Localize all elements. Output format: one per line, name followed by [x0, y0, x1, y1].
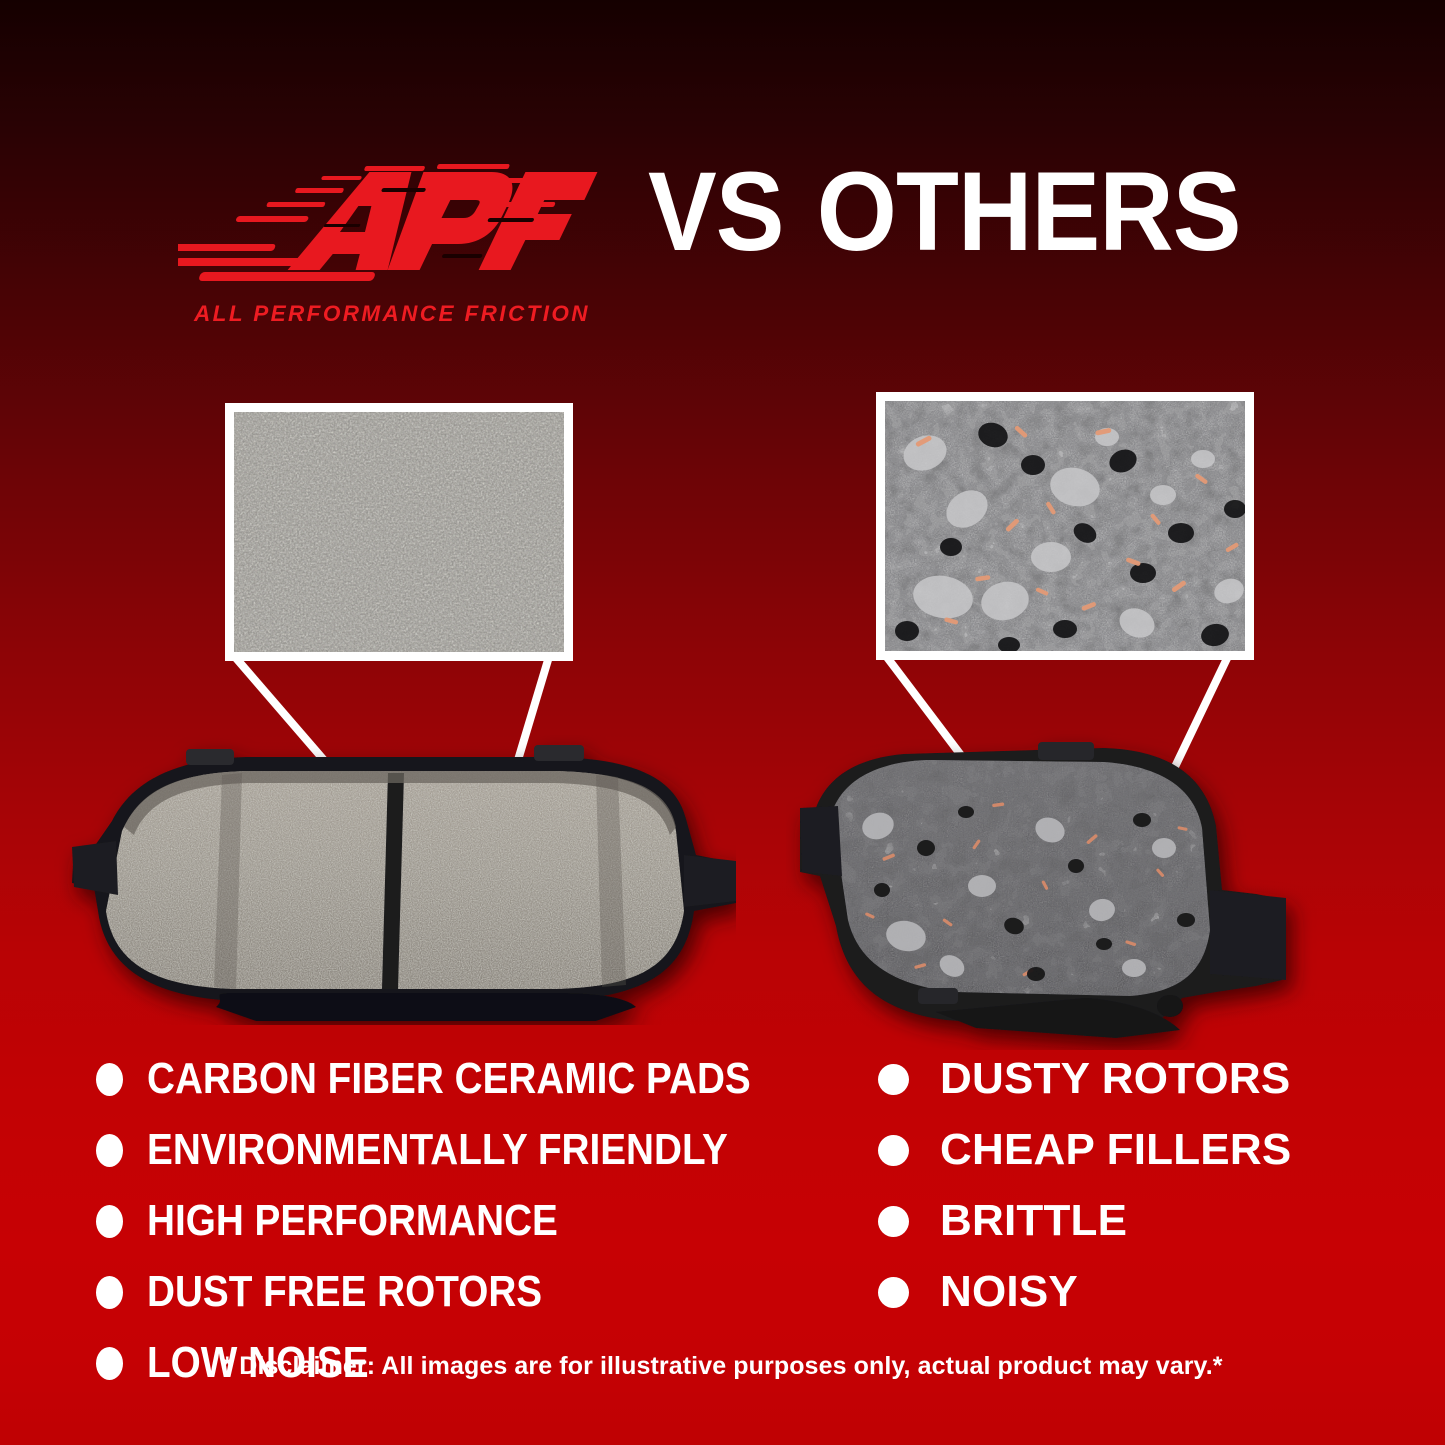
- header: ALL PERFORMANCE FRICTION VSOTHERS: [0, 140, 1445, 340]
- promo-canvas: ALL PERFORMANCE FRICTION VSOTHERS: [0, 0, 1445, 1445]
- vs-label: VS: [648, 149, 784, 274]
- others-feature-list: DUSTY ROTORS CHEAP FILLERS BRITTLE NOISY: [878, 1048, 1398, 1332]
- list-item-label: HIGH PERFORMANCE: [147, 1199, 558, 1243]
- list-item: BRITTLE: [878, 1190, 1398, 1252]
- list-item-label: DUSTY ROTORS: [940, 1057, 1290, 1101]
- bullet-dot-icon: [96, 1063, 123, 1096]
- list-item: DUSTY ROTORS: [878, 1048, 1398, 1110]
- list-item-label: NOISY: [940, 1270, 1078, 1314]
- others-texture: [885, 401, 1245, 651]
- bullet-dot-icon: [878, 1135, 909, 1166]
- apf-feature-list: CARBON FIBER CERAMIC PADS ENVIRONMENTALL…: [96, 1048, 856, 1403]
- page-title: VSOTHERS: [648, 156, 1241, 268]
- list-item-label: CHEAP FILLERS: [940, 1128, 1291, 1172]
- list-item-label: ENVIRONMENTALLY FRIENDLY: [147, 1128, 728, 1172]
- list-item: DUST FREE ROTORS: [96, 1261, 856, 1323]
- brand-tagline: ALL PERFORMANCE FRICTION: [182, 301, 602, 327]
- list-item-label: DUST FREE ROTORS: [147, 1270, 542, 1314]
- others-label: OTHERS: [817, 149, 1241, 274]
- list-item: HIGH PERFORMANCE: [96, 1190, 856, 1252]
- apf-texture: [234, 412, 564, 652]
- bullet-dot-icon: [96, 1205, 123, 1238]
- others-pad-surface-zoom: [876, 392, 1254, 660]
- list-item: CARBON FIBER CERAMIC PADS: [96, 1048, 856, 1110]
- brand-logo: ALL PERFORMANCE FRICTION: [178, 158, 598, 333]
- bullet-dot-icon: [878, 1064, 909, 1095]
- bullet-dot-icon: [878, 1206, 909, 1237]
- apf-pad-surface-zoom: [225, 403, 573, 661]
- list-item: CHEAP FILLERS: [878, 1119, 1398, 1181]
- list-item-label: CARBON FIBER CERAMIC PADS: [147, 1057, 751, 1101]
- others-brake-pad: [786, 730, 1326, 1050]
- disclaimer-text: * Disclaimer: All images are for illustr…: [0, 1352, 1445, 1381]
- bullet-dot-icon: [96, 1276, 123, 1309]
- bullet-dot-icon: [878, 1277, 909, 1308]
- apf-brake-pad: [36, 735, 736, 1025]
- list-item-label: BRITTLE: [940, 1199, 1127, 1243]
- bullet-dot-icon: [96, 1134, 123, 1167]
- list-item: ENVIRONMENTALLY FRIENDLY: [96, 1119, 856, 1181]
- apf-speed-logo-icon: [178, 158, 598, 293]
- list-item: NOISY: [878, 1261, 1398, 1323]
